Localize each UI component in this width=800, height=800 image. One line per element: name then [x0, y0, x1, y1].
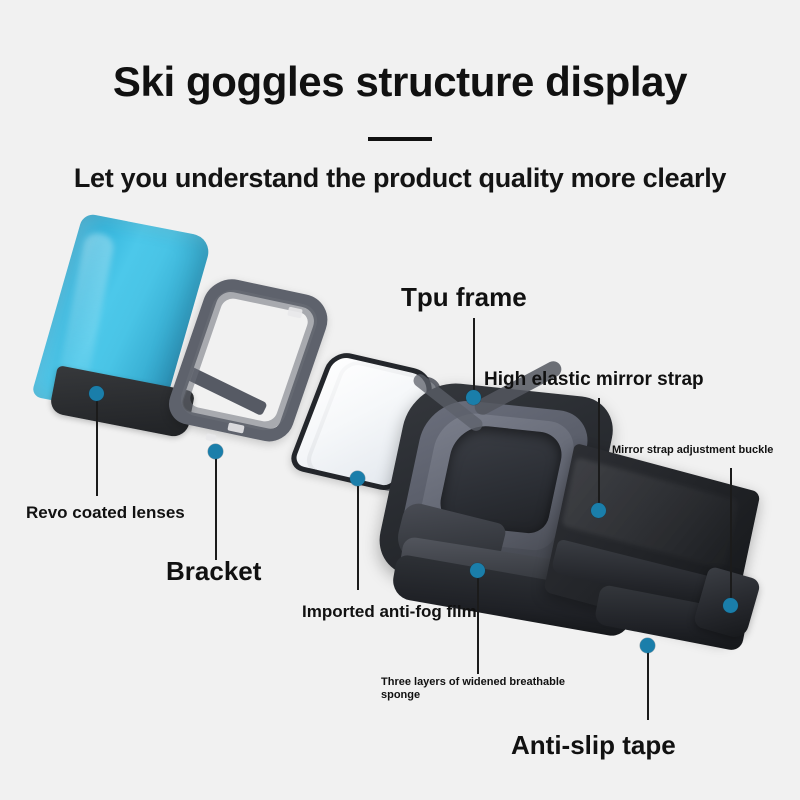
- leader-line-tpu-frame: [473, 318, 475, 398]
- leader-line-mirror-strap-adjustment-buckle: [730, 468, 732, 606]
- marker-dot-revo-coated-lenses[interactable]: [89, 386, 104, 401]
- callout-label-anti-slip-tape: Anti-slip tape: [511, 730, 676, 762]
- leader-line-three-layers-breathable-sponge: [477, 578, 479, 674]
- callout-label-high-elastic-mirror-strap: High elastic mirror strap: [484, 368, 704, 391]
- bracket-slot-left: [205, 433, 216, 442]
- marker-dot-anti-slip-tape[interactable]: [640, 638, 655, 653]
- leader-line-imported-anti-fog-film: [357, 486, 359, 590]
- callout-label-three-layers-breathable-sponge: Three layers of widened breathable spong…: [381, 676, 581, 703]
- page-title: Ski goggles structure display: [0, 58, 800, 106]
- leader-line-bracket: [215, 458, 217, 560]
- marker-dot-high-elastic-mirror-strap[interactable]: [591, 503, 606, 518]
- marker-dot-tpu-frame[interactable]: [466, 390, 481, 405]
- leader-line-high-elastic-mirror-strap: [598, 398, 600, 510]
- marker-dot-three-layers-breathable-sponge[interactable]: [470, 563, 485, 578]
- callout-label-bracket: Bracket: [166, 556, 261, 588]
- marker-dot-mirror-strap-adjustment-buckle[interactable]: [723, 598, 738, 613]
- page-subtitle: Let you understand the product quality m…: [0, 163, 800, 194]
- callout-label-tpu-frame: Tpu frame: [401, 282, 527, 314]
- leader-line-anti-slip-tape: [647, 652, 649, 720]
- title-divider: [368, 137, 432, 141]
- callout-label-imported-anti-fog-film: Imported anti-fog film: [302, 602, 477, 623]
- marker-dot-imported-anti-fog-film[interactable]: [350, 471, 365, 486]
- callout-label-mirror-strap-adjustment-buckle: Mirror strap adjustment buckle: [612, 444, 773, 457]
- leader-line-revo-coated-lenses: [96, 400, 98, 496]
- infographic-canvas: Ski goggles structure display Let you un…: [0, 0, 800, 800]
- callout-label-revo-coated-lenses: Revo coated lenses: [26, 503, 185, 524]
- marker-dot-bracket[interactable]: [208, 444, 223, 459]
